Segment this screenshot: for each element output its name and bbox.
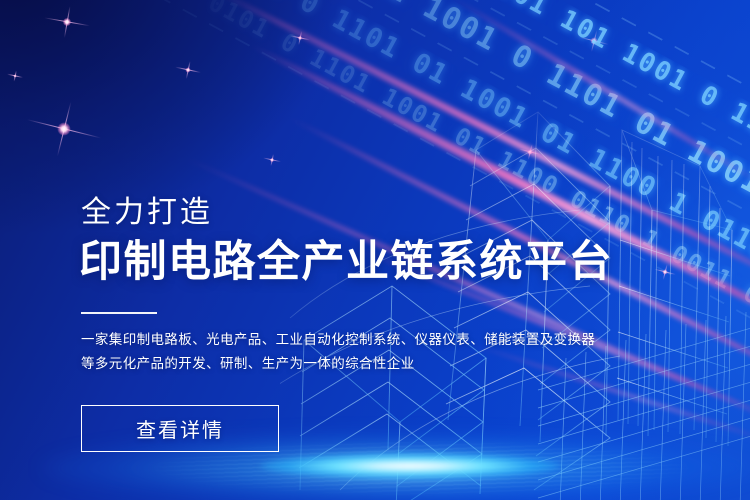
hero-divider [81,312,157,314]
hero-subtitle: 一家集印制电路板、光电产品、工业自动化控制系统、仪器仪表、储能装置及变换器 等多… [81,328,601,376]
hero-headline: 印制电路全产业链系统平台 [79,236,613,288]
hero-banner: 01 1001 101 1001 01 100 1 1001 101 1001 … [0,0,750,500]
view-details-button[interactable]: 查看详情 [81,405,279,452]
hero-subtitle-line-1: 一家集印制电路板、光电产品、工业自动化控制系统、仪器仪表、储能装置及变换器 [81,328,601,352]
hero-subtitle-line-2: 等多元化产品的开发、研制、生产为一体的综合性企业 [81,352,601,376]
wireframe-city-graphic [280,90,750,500]
hero-eyebrow: 全力打造 [81,196,213,230]
